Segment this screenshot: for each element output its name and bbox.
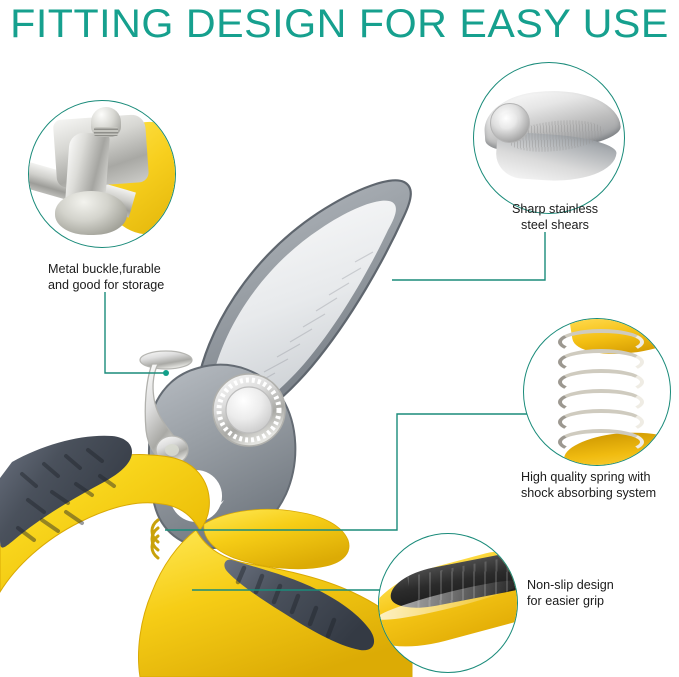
buckle-pad (55, 191, 127, 235)
leader-sharp-shears (392, 232, 545, 280)
grip-closeup-image (379, 534, 517, 672)
caption-metal-buckle: Metal buckle,furable and good for storag… (48, 262, 208, 293)
caption-quality-spring: High quality spring with shock absorbing… (521, 470, 679, 501)
spring-coils (558, 327, 650, 459)
spring-closeup-image (524, 319, 670, 465)
metal-buckle-closeup-image (29, 101, 175, 247)
leader-quality-spring (165, 414, 528, 530)
caption-sharp-shears: Sharp stainless steel shears (490, 202, 620, 233)
callout-sharp-shears (473, 62, 625, 214)
leader-anchor-dot (163, 370, 169, 376)
blade-closeup-image (474, 63, 624, 213)
blade-pivot-bolt (490, 103, 530, 143)
callout-quality-spring (523, 318, 671, 466)
caption-non-slip-grip: Non-slip design for easier grip (527, 578, 677, 609)
callout-non-slip-grip (378, 533, 518, 673)
leader-metal-buckle (105, 292, 164, 373)
buckle-knob (91, 107, 121, 137)
infographic-canvas: FITTING DESIGN FOR EASY USE (0, 0, 679, 677)
callout-metal-buckle (28, 100, 176, 248)
